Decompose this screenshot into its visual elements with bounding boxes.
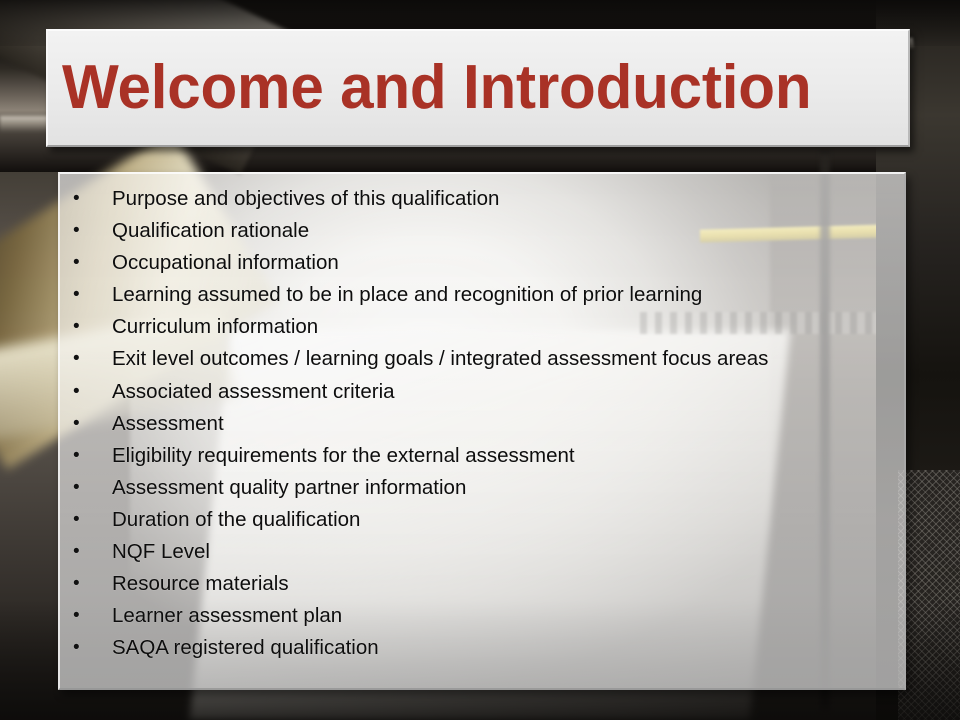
list-item-label: Purpose and objectives of this qualifica… xyxy=(112,183,499,215)
list-item: •Learner assessment plan xyxy=(70,600,894,632)
list-item-label: Eligibility requirements for the externa… xyxy=(112,440,575,472)
list-item-label: NQF Level xyxy=(112,536,210,568)
list-item: •Learning assumed to be in place and rec… xyxy=(70,279,894,311)
bullet-list: •Purpose and objectives of this qualific… xyxy=(70,183,894,664)
bullet-dot-icon: • xyxy=(73,536,80,568)
list-item: •NQF Level xyxy=(70,536,894,568)
list-item: •SAQA registered qualification xyxy=(70,632,894,664)
list-item: •Exit level outcomes / learning goals / … xyxy=(70,343,894,375)
bullet-dot-icon: • xyxy=(73,279,80,311)
bullet-dot-icon: • xyxy=(73,183,80,215)
bullet-dot-icon: • xyxy=(73,343,80,375)
bullet-dot-icon: • xyxy=(73,472,80,504)
bullet-dot-icon: • xyxy=(73,568,80,600)
slide-title-box: Welcome and Introduction xyxy=(46,29,910,147)
list-item: •Assessment quality partner information xyxy=(70,472,894,504)
list-item: •Curriculum information xyxy=(70,311,894,343)
list-item: •Eligibility requirements for the extern… xyxy=(70,440,894,472)
list-item: •Occupational information xyxy=(70,247,894,279)
list-item-label: Exit level outcomes / learning goals / i… xyxy=(112,343,768,375)
list-item-label: SAQA registered qualification xyxy=(112,632,379,664)
list-item-label: Assessment quality partner information xyxy=(112,472,466,504)
list-item-label: Assessment xyxy=(112,408,224,440)
bullet-dot-icon: • xyxy=(73,440,80,472)
bullet-dot-icon: • xyxy=(73,215,80,247)
list-item-label: Duration of the qualification xyxy=(112,504,360,536)
bullet-dot-icon: • xyxy=(73,408,80,440)
list-item: •Resource materials xyxy=(70,568,894,600)
list-item-label: Occupational information xyxy=(112,247,339,279)
list-item: •Duration of the qualification xyxy=(70,504,894,536)
list-item-label: Learning assumed to be in place and reco… xyxy=(112,279,702,311)
bullet-dot-icon: • xyxy=(73,600,80,632)
bullet-dot-icon: • xyxy=(73,311,80,343)
list-item: •Assessment xyxy=(70,408,894,440)
list-item-label: Qualification rationale xyxy=(112,215,309,247)
list-item-label: Resource materials xyxy=(112,568,289,600)
bullet-dot-icon: • xyxy=(73,376,80,408)
bullet-dot-icon: • xyxy=(73,632,80,664)
list-item: •Associated assessment criteria xyxy=(70,376,894,408)
slide-title: Welcome and Introduction xyxy=(62,57,811,119)
list-item-label: Learner assessment plan xyxy=(112,600,342,632)
slide-content-panel: •Purpose and objectives of this qualific… xyxy=(58,172,906,690)
list-item: •Purpose and objectives of this qualific… xyxy=(70,183,894,215)
presentation-slide: Welcome and Introduction •Purpose and ob… xyxy=(0,0,960,720)
bullet-dot-icon: • xyxy=(73,247,80,279)
list-item: •Qualification rationale xyxy=(70,215,894,247)
list-item-label: Curriculum information xyxy=(112,311,318,343)
list-item-label: Associated assessment criteria xyxy=(112,376,395,408)
bullet-dot-icon: • xyxy=(73,504,80,536)
